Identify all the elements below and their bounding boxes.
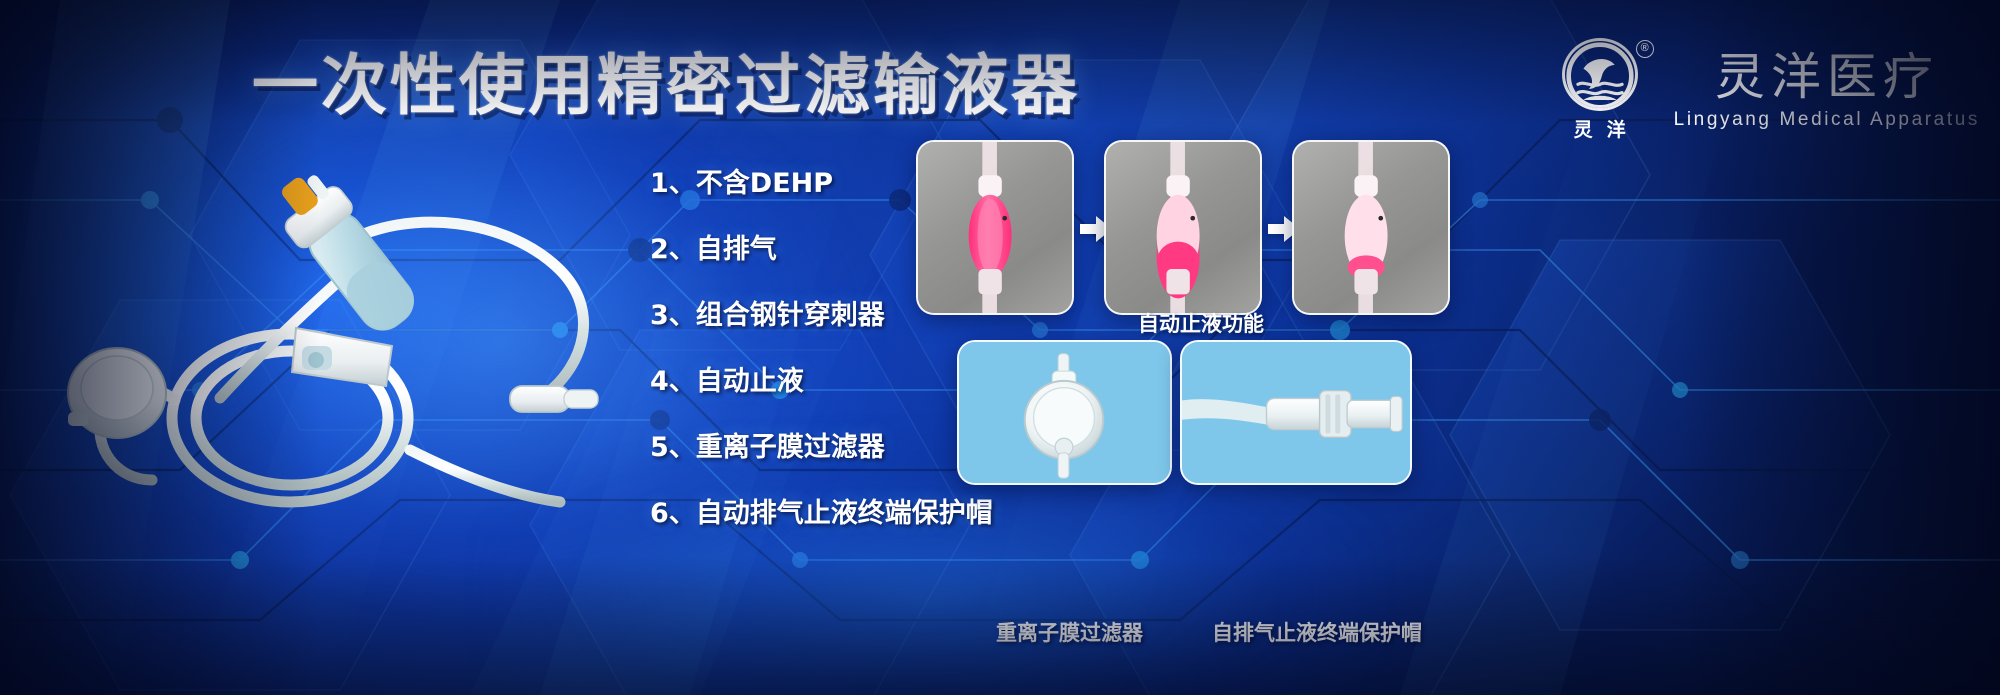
self-venting-stop-end-cap-caption: 自排气止液终端保护帽 [1212, 617, 1422, 647]
product-banner: 一次性使用精密过滤输液器 ® 灵洋 灵洋医疗 Lingyang Medical … [0, 0, 2000, 695]
auto-stop-frame-3 [1292, 140, 1450, 315]
roller-clamp [292, 328, 392, 386]
filter-disc [68, 348, 166, 438]
logo-mark-caption: 灵洋 [1560, 115, 1640, 142]
banner-title: 一次性使用精密过滤输液器 [252, 44, 1032, 128]
feature-item-5: 5、重离子膜过滤器 [650, 432, 1010, 463]
brand-text-block: 灵洋医疗 Lingyang Medical Apparatus [1674, 49, 1980, 131]
heavy-ion-membrane-filter-image [957, 340, 1172, 485]
feature-item-6: 6、自动排气止液终端保护帽 [650, 498, 1010, 529]
self-venting-stop-end-cap-image [1180, 340, 1412, 485]
brand-name-cn: 灵洋医疗 [1715, 49, 1939, 105]
registered-trademark-icon: ® [1636, 40, 1654, 58]
logo-mark: ® 灵洋 [1548, 38, 1652, 142]
feature-item-4: 4、自动止液 [650, 366, 1010, 397]
heavy-ion-membrane-filter-caption: 重离子膜过滤器 [996, 617, 1143, 647]
y-connector [510, 386, 598, 412]
demo-sequence-caption: 自动止液功能 [1138, 308, 1264, 338]
auto-stop-frame-2 [1104, 140, 1262, 315]
brand-name-en: Lingyang Medical Apparatus [1674, 109, 1980, 131]
dolphin-wave-icon [1562, 38, 1638, 111]
main-product-image [40, 150, 640, 550]
brand-logo: ® 灵洋 灵洋医疗 Lingyang Medical Apparatus [1548, 38, 1980, 142]
auto-stop-frame-1 [916, 140, 1074, 315]
